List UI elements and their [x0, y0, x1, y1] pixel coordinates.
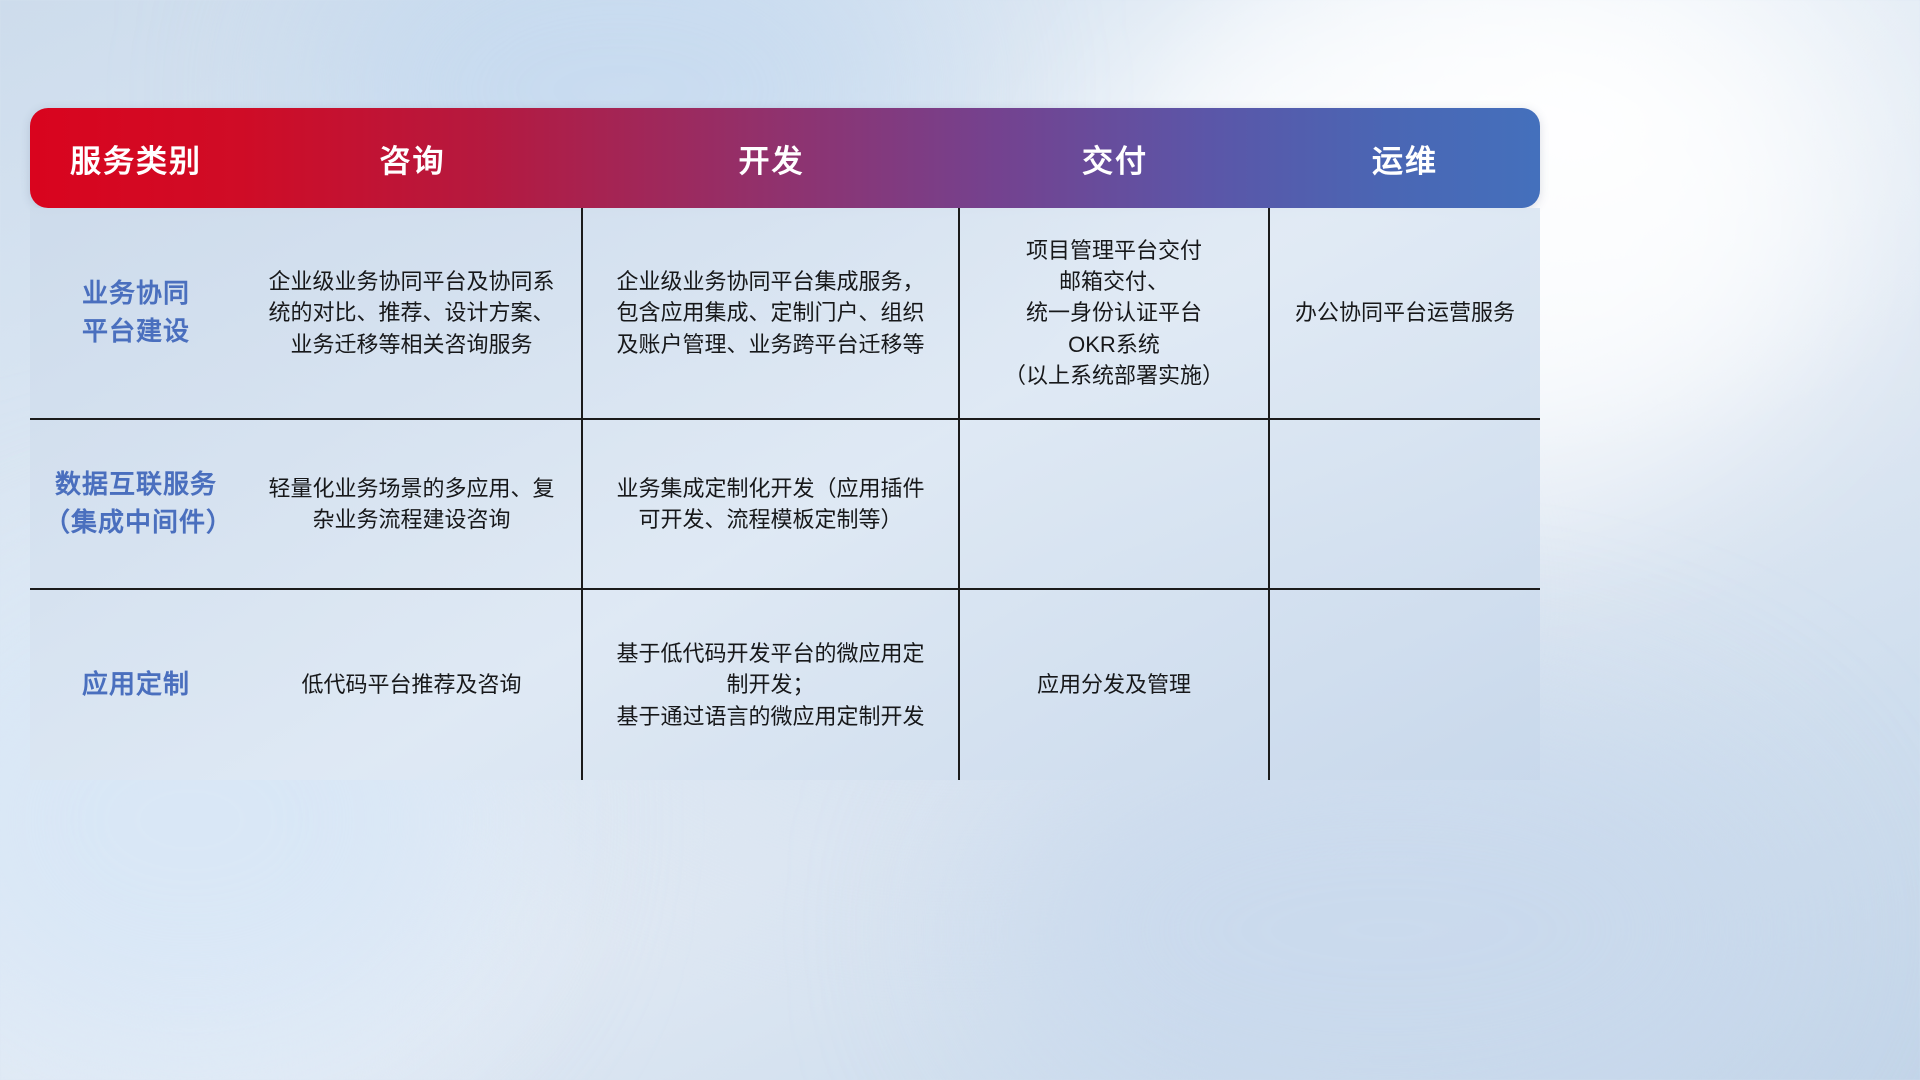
table-body: 业务协同 平台建设 企业级业务协同平台及协同系 统的对比、推荐、设计方案、 业务…	[30, 208, 1540, 780]
cell-delivery	[960, 420, 1270, 588]
row-category-label: 业务协同 平台建设	[30, 208, 242, 418]
cell-operations: 办公协同平台运营服务	[1270, 208, 1540, 418]
row-category-label: 应用定制	[30, 590, 242, 780]
cell-delivery: 项目管理平台交付 邮箱交付、 统一身份认证平台 OKR系统 （以上系统部署实施）	[960, 208, 1270, 418]
table-row: 业务协同 平台建设 企业级业务协同平台及协同系 统的对比、推荐、设计方案、 业务…	[30, 208, 1540, 420]
cell-development: 业务集成定制化开发（应用插件 可开发、流程模板定制等）	[583, 420, 960, 588]
table-header-row: 服务类别 咨询 开发 交付 运维	[30, 108, 1540, 208]
column-header-delivery: 交付	[960, 136, 1270, 181]
column-header-operations: 运维	[1270, 136, 1540, 181]
cell-consulting: 企业级业务协同平台及协同系 统的对比、推荐、设计方案、 业务迁移等相关咨询服务	[242, 208, 583, 418]
cell-development: 企业级业务协同平台集成服务， 包含应用集成、定制门户、组织 及账户管理、业务跨平…	[583, 208, 960, 418]
cell-operations	[1270, 420, 1540, 588]
column-header-development: 开发	[583, 136, 960, 181]
cell-operations	[1270, 590, 1540, 780]
column-header-service-category: 服务类别	[30, 136, 242, 181]
slide-canvas: 服务类别 咨询 开发 交付 运维 业务协同 平台建设 企业级业务协同平台及协同系…	[0, 0, 1920, 1080]
cell-consulting: 轻量化业务场景的多应用、复 杂业务流程建设咨询	[242, 420, 583, 588]
table-row: 数据互联服务 （集成中间件） 轻量化业务场景的多应用、复 杂业务流程建设咨询 业…	[30, 420, 1540, 590]
cell-development: 基于低代码开发平台的微应用定 制开发； 基于通过语言的微应用定制开发	[583, 590, 960, 780]
cell-delivery: 应用分发及管理	[960, 590, 1270, 780]
table-row: 应用定制 低代码平台推荐及咨询 基于低代码开发平台的微应用定 制开发； 基于通过…	[30, 590, 1540, 780]
column-header-consulting: 咨询	[242, 136, 583, 181]
service-matrix-table: 服务类别 咨询 开发 交付 运维 业务协同 平台建设 企业级业务协同平台及协同系…	[30, 108, 1540, 780]
row-category-label: 数据互联服务 （集成中间件）	[30, 420, 242, 588]
cell-consulting: 低代码平台推荐及咨询	[242, 590, 583, 780]
